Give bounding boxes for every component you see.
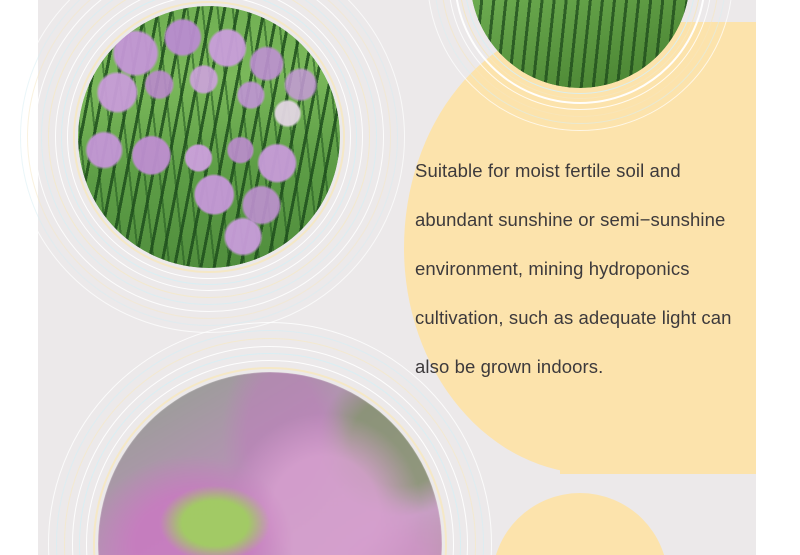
left-margin-strip [0,0,38,555]
right-margin-strip [756,0,800,555]
chives-field-photo [78,6,340,268]
page-root: Suitable for moist fertile soil and abun… [0,0,800,555]
description-paragraph: Suitable for moist fertile soil and abun… [415,146,753,391]
description-text-block: Suitable for moist fertile soil and abun… [415,146,753,391]
chives-field-photo-image [78,6,340,268]
